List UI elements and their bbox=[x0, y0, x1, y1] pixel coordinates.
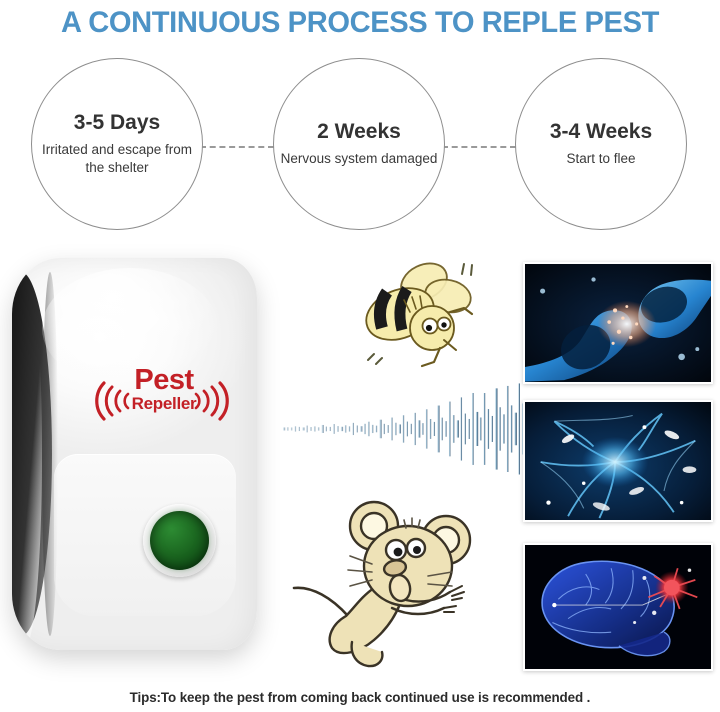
step-3-body: Start to flee bbox=[560, 150, 641, 168]
logo-text: Pest Repeller bbox=[108, 367, 220, 413]
fleeing-mouse-illustration bbox=[288, 492, 502, 672]
power-button-ring[interactable] bbox=[143, 504, 216, 577]
logo-line-pest: Pest bbox=[108, 367, 220, 395]
logo-line-repeller: Repeller bbox=[108, 395, 220, 413]
device-body: Pest Repeller bbox=[12, 258, 257, 650]
panel-neuron-network-image bbox=[523, 400, 713, 522]
step-3-heading: 3-4 Weeks bbox=[550, 120, 652, 143]
process-steps: 3-5 Days Irritated and escape from the s… bbox=[0, 56, 720, 231]
step-circle-1: 3-5 Days Irritated and escape from the s… bbox=[31, 58, 203, 230]
fleeing-bee-illustration bbox=[352, 252, 504, 380]
step-1-heading: 3-5 Days bbox=[74, 111, 160, 134]
step-circle-3: 3-4 Weeks Start to flee bbox=[515, 58, 687, 230]
ultrasonic-pest-repeller-device: Pest Repeller bbox=[12, 258, 267, 658]
pest-repeller-logo: Pest Repeller bbox=[74, 363, 250, 437]
infographic-page: A CONTINUOUS PROCESS TO REPLE PEST 3-5 D… bbox=[0, 0, 720, 712]
step-connector-2 bbox=[442, 146, 516, 148]
power-indicator-led[interactable] bbox=[150, 511, 209, 570]
step-2-heading: 2 Weeks bbox=[317, 120, 401, 143]
footer-tip: Tips:To keep the pest from coming back c… bbox=[0, 690, 720, 705]
device-side-panel bbox=[12, 272, 52, 636]
panel-synapse-image bbox=[523, 262, 713, 384]
page-title: A CONTINUOUS PROCESS TO REPLE PEST bbox=[11, 6, 709, 40]
step-2-body: Nervous system damaged bbox=[275, 150, 444, 168]
step-circle-2: 2 Weeks Nervous system damaged bbox=[273, 58, 445, 230]
panel-brain-image bbox=[523, 543, 713, 671]
step-connector-1 bbox=[200, 146, 274, 148]
step-1-body: Irritated and escape from the shelter bbox=[32, 141, 202, 177]
